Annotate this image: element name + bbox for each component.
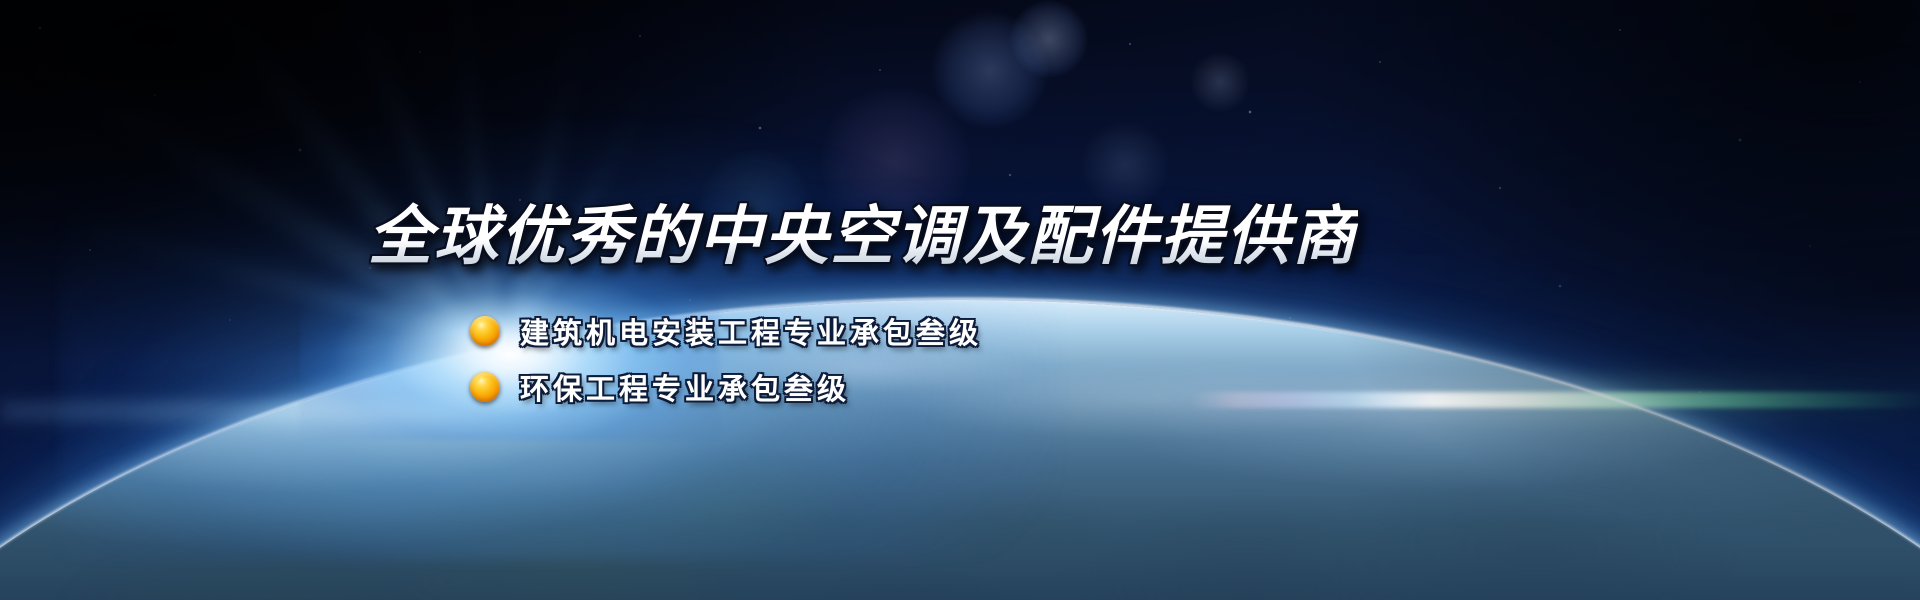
list-item: 环保工程专业承包叁级 [470, 366, 982, 408]
feature-list: 建筑机电安装工程专业承包叁级 环保工程专业承包叁级 [470, 310, 982, 408]
hero-banner: 全球优秀的中央空调及配件提供商 建筑机电安装工程专业承包叁级 环保工程专业承包叁… [0, 0, 1920, 600]
bullet-dot-icon [470, 316, 500, 346]
list-item-label: 建筑机电安装工程专业承包叁级 [520, 310, 982, 352]
page-title: 全球优秀的中央空调及配件提供商 [368, 202, 1358, 274]
banner-content: 全球优秀的中央空调及配件提供商 建筑机电安装工程专业承包叁级 环保工程专业承包叁… [0, 0, 1920, 600]
list-item: 建筑机电安装工程专业承包叁级 [470, 310, 982, 352]
bullet-dot-icon [470, 372, 500, 402]
list-item-label: 环保工程专业承包叁级 [520, 366, 850, 408]
